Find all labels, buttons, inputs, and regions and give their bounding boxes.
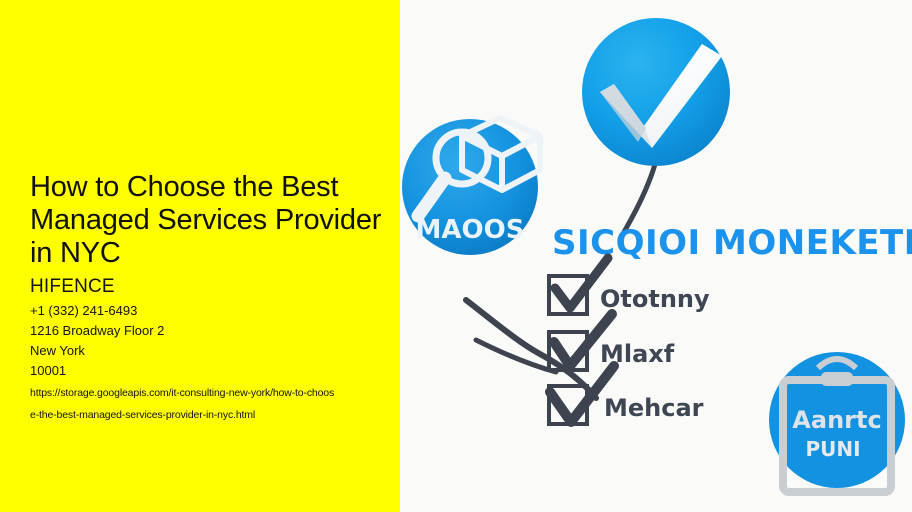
source-url-line-1: https://storage.googleapis.com/it-consul… — [30, 382, 375, 404]
contact-zip: 10001 — [30, 361, 380, 381]
left-yellow-panel: How to Choose the Best Managed Services … — [0, 0, 400, 512]
contact-phone: +1 (332) 241-6493 — [30, 301, 380, 321]
checklist-label-3: Mehcar — [604, 394, 704, 422]
source-url[interactable]: https://storage.googleapis.com/it-consul… — [30, 382, 375, 426]
source-url-line-2: e-the-best-managed-services-provider-in-… — [30, 404, 375, 426]
brand-name: HIFENCE — [30, 276, 115, 298]
clipboard-badge-label-2: PUNI — [805, 437, 860, 461]
checklist-label-1: Ototnny — [600, 285, 710, 313]
illustration-panel: MAOOS Aanrtc PUNI SICQIOI MONEKETIVS Ot — [400, 0, 912, 512]
clipboard-badge-label-1: Aanrtc — [792, 406, 881, 434]
illustration-graphic: MAOOS Aanrtc PUNI SICQIOI MONEKETIVS Ot — [400, 0, 912, 512]
contact-block: +1 (332) 241-6493 1216 Broadway Floor 2 … — [30, 301, 380, 381]
article-preview-card: How to Choose the Best Managed Services … — [0, 0, 912, 512]
contact-city: New York — [30, 341, 380, 361]
magnifier-badge-label: MAOOS — [416, 215, 525, 245]
page-title: How to Choose the Best Managed Services … — [30, 171, 390, 270]
check-circle-icon — [582, 18, 730, 166]
contact-street: 1216 Broadway Floor 2 — [30, 321, 380, 341]
